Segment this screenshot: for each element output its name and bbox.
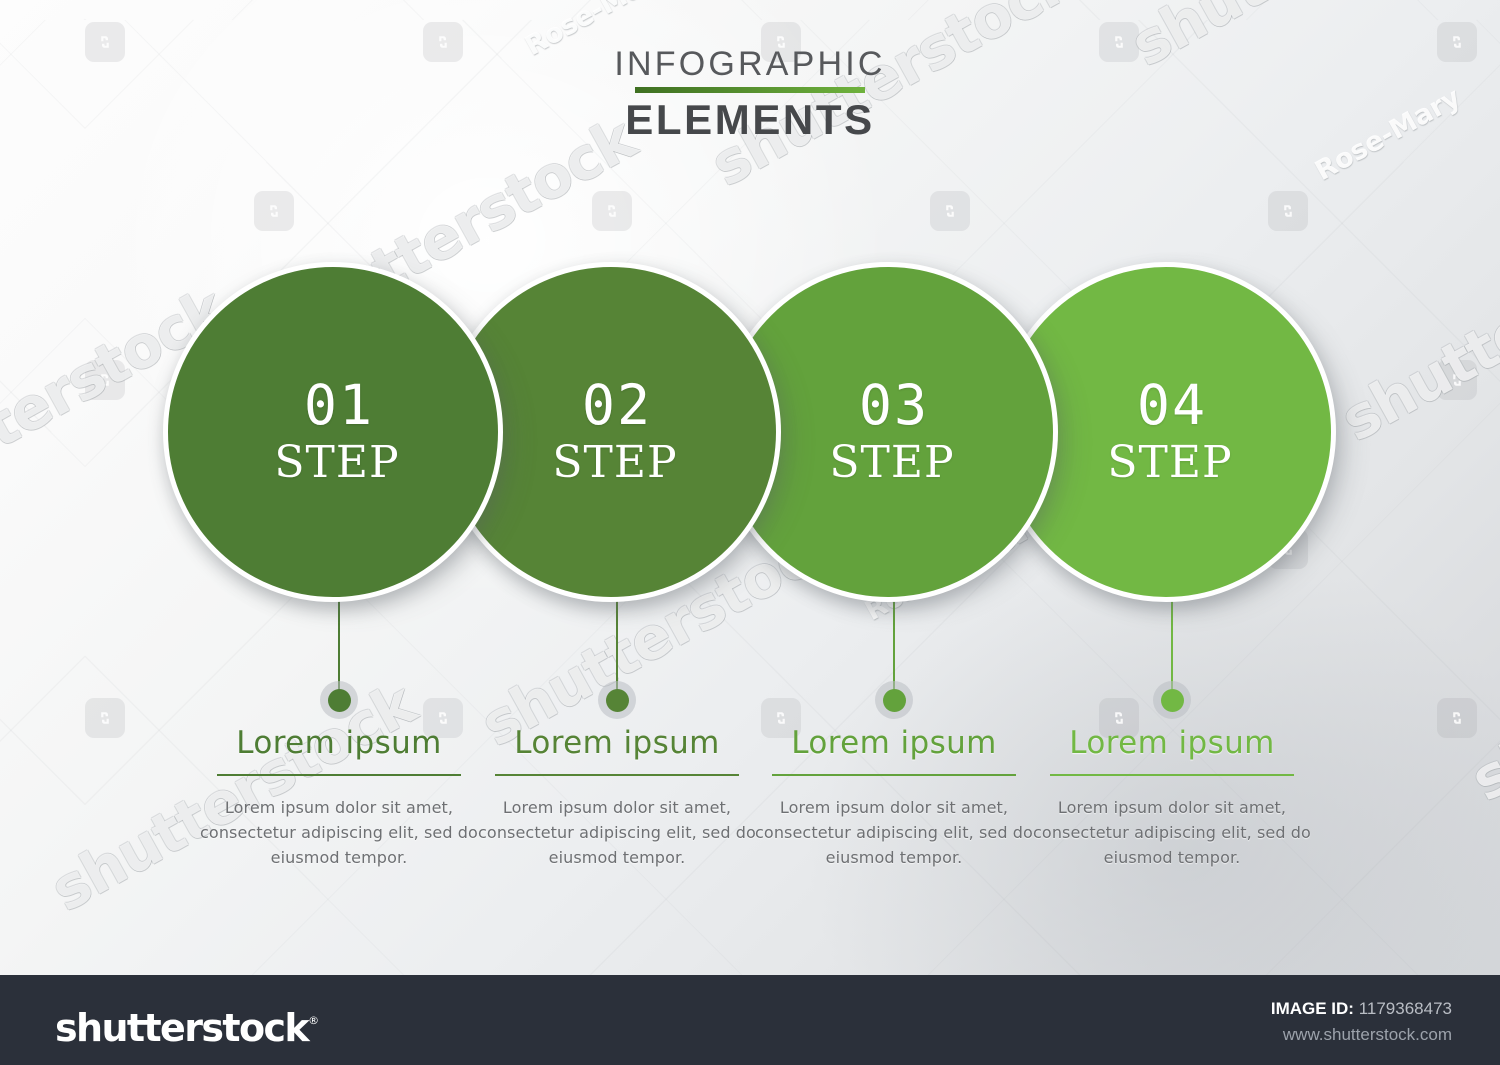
step-body-text: Lorem ipsum dolor sit amet, consectetur … <box>752 795 1036 870</box>
registered-mark-icon: ® <box>308 1014 319 1027</box>
footer-bar: shutterstock® IMAGE ID: 1179368473 www.s… <box>0 975 1500 1065</box>
step-description-04: Lorem ipsumLorem ipsum dolor sit amet, c… <box>1030 724 1314 870</box>
footer-meta: IMAGE ID: 1179368473 www.shutterstock.co… <box>1271 997 1452 1047</box>
image-id-line: IMAGE ID: 1179368473 <box>1271 997 1452 1021</box>
step-heading: Lorem ipsum <box>1030 724 1314 762</box>
step-heading-divider <box>772 774 1016 776</box>
step-heading: Lorem ipsum <box>197 724 481 762</box>
step-description-02: Lorem ipsumLorem ipsum dolor sit amet, c… <box>475 724 759 870</box>
image-id-value: 1179368473 <box>1359 999 1452 1018</box>
connector-dot <box>1153 681 1191 719</box>
step-heading: Lorem ipsum <box>475 724 759 762</box>
step-label: STEP <box>274 437 399 489</box>
step-label: STEP <box>1107 437 1232 489</box>
shutterstock-logo[interactable]: shutterstock® <box>55 1000 319 1049</box>
step-number: 02 <box>582 375 652 435</box>
connector-dot-core <box>1161 689 1184 712</box>
step-heading-divider <box>1050 774 1294 776</box>
step-heading-divider <box>217 774 461 776</box>
step-number: 01 <box>304 375 374 435</box>
step-label: STEP <box>829 437 954 489</box>
step-body-text: Lorem ipsum dolor sit amet, consectetur … <box>475 795 759 870</box>
connector-dot-core <box>883 689 906 712</box>
footer-url[interactable]: www.shutterstock.com <box>1271 1023 1452 1047</box>
connector-dot <box>598 681 636 719</box>
step-label: STEP <box>552 437 677 489</box>
step-body-text: Lorem ipsum dolor sit amet, consectetur … <box>1030 795 1314 870</box>
connector-dot <box>875 681 913 719</box>
step-number: 04 <box>1137 375 1207 435</box>
step-description-01: Lorem ipsumLorem ipsum dolor sit amet, c… <box>197 724 481 870</box>
step-body-text: Lorem ipsum dolor sit amet, consectetur … <box>197 795 481 870</box>
step-heading: Lorem ipsum <box>752 724 1036 762</box>
connector-dot <box>320 681 358 719</box>
step-number: 03 <box>859 375 929 435</box>
step-description-03: Lorem ipsumLorem ipsum dolor sit amet, c… <box>752 724 1036 870</box>
step-heading-divider <box>495 774 739 776</box>
shutterstock-logo-text: shutterstock <box>55 1006 308 1050</box>
infographic-canvas: shutterstockshutterstockshutterstockshut… <box>0 0 1500 1065</box>
connector-dot-core <box>328 689 351 712</box>
step-circle-01[interactable]: 01STEP <box>163 262 503 602</box>
connector-dot-core <box>606 689 629 712</box>
image-id-label: IMAGE ID: <box>1271 999 1354 1018</box>
